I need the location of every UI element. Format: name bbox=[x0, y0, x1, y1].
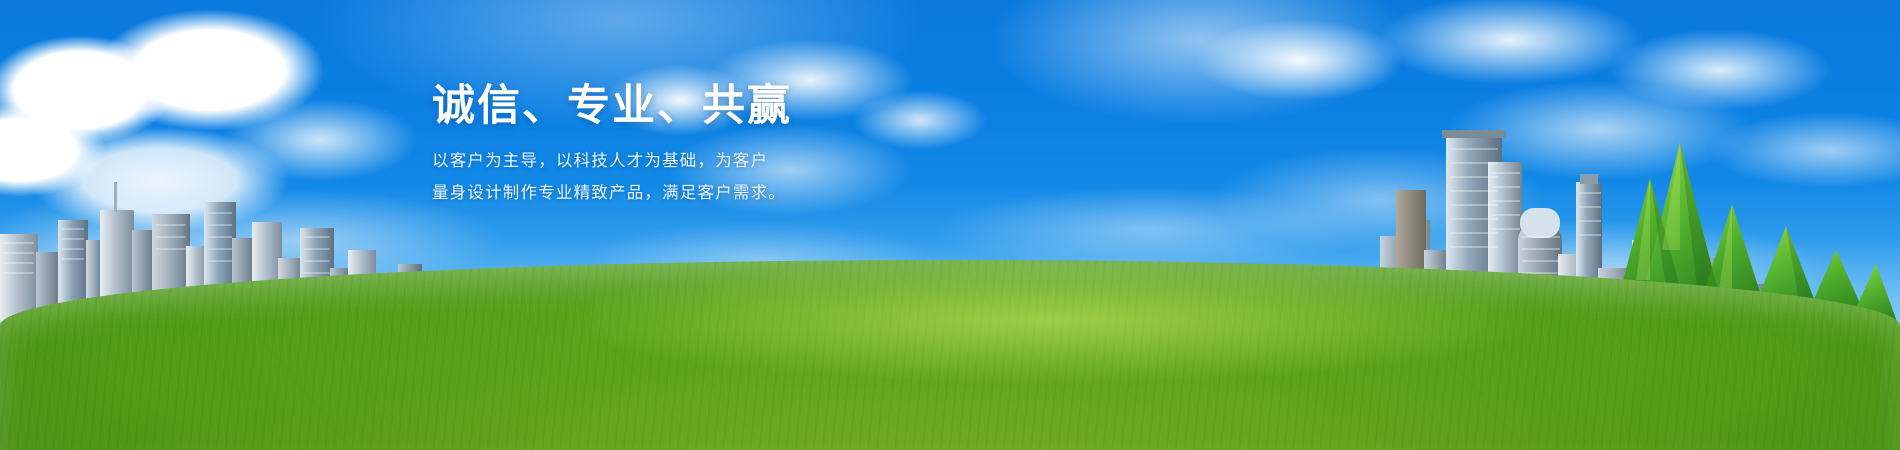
banner-subtitle: 以客户为主导，以科技人才为基础，为客户 量身设计制作专业精致产品，满足客户需求。 bbox=[432, 145, 1052, 209]
banner-copy: 诚信、专业、共赢 以客户为主导，以科技人才为基础，为客户 量身设计制作专业精致产… bbox=[432, 84, 1052, 209]
banner-headline: 诚信、专业、共赢 bbox=[432, 84, 1052, 129]
banner-subtitle-line-1: 以客户为主导，以科技人才为基础，为客户 bbox=[432, 145, 1052, 177]
grass-lighting bbox=[0, 260, 1900, 450]
hero-banner: 诚信、专业、共赢 以客户为主导，以科技人才为基础，为客户 量身设计制作专业精致产… bbox=[0, 0, 1900, 450]
banner-subtitle-line-2: 量身设计制作专业精致产品，满足客户需求。 bbox=[432, 177, 1052, 209]
